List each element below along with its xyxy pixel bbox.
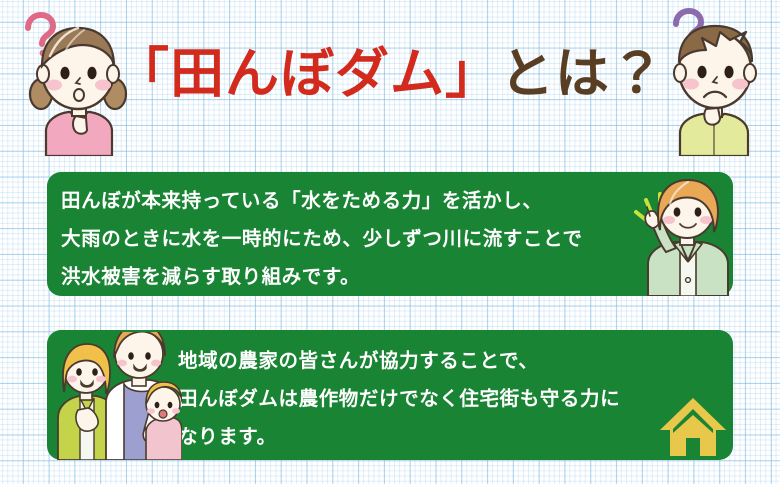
info-panel-2: 地域の農家の皆さんが協力することで、 田んぼダムは農作物だけでなく住宅街も守る力… (47, 330, 733, 460)
poster-canvas: 田んぼが本来持っている「水をためる力」を活かし、 大雨のときに水を一時的にため、… (0, 0, 780, 484)
info-panel-2-text: 地域の農家の皆さんが協力することで、 田んぼダムは農作物だけでなく住宅街も守る力… (178, 342, 620, 456)
info-panel-2-line-1: 地域の農家の皆さんが協力することで、 (178, 342, 620, 380)
info-panel-1-line-2: 大雨のときに水を一時的にため、少しずつ川に流すことで (61, 220, 583, 258)
info-panel-1: 田んぼが本来持っている「水をためる力」を活かし、 大雨のときに水を一時的にため、… (47, 172, 733, 296)
info-panel-2-line-3: なります。 (178, 418, 620, 456)
info-panel-2-line-2: 田んぼダムは農作物だけでなく住宅街も守る力に (178, 380, 620, 418)
info-panel-1-text: 田んぼが本来持っている「水をためる力」を活かし、 大雨のときに水を一時的にため、… (61, 182, 583, 296)
info-panel-1-line-1: 田んぼが本来持っている「水をためる力」を活かし、 (61, 182, 583, 220)
info-panel-1-line-3: 洪水被害を減らす取り組みです。 (61, 258, 583, 296)
